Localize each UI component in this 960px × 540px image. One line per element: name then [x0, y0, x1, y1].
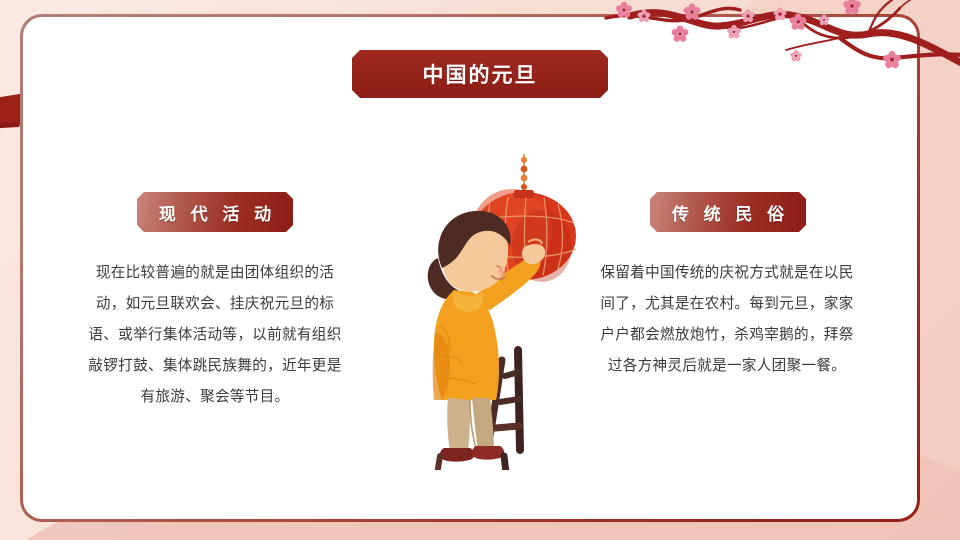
slide-root: 中国的元旦 现 代 活 动 传 统 民 俗 现在比较普遍的就是由团体组织的活动，… — [0, 0, 960, 540]
section-heading-modern-activities: 现 代 活 动 — [137, 192, 293, 232]
page-title: 中国的元旦 — [423, 59, 538, 89]
section-body-modern-activities: 现在比较普遍的就是由团体组织的活动，如元旦联欢会、挂庆祝元旦的标语、或举行集体活… — [84, 258, 346, 413]
section-heading-traditional-customs: 传 统 民 俗 — [650, 192, 806, 232]
person-hanging-lantern-on-ladder-illustration — [392, 150, 582, 470]
section-heading-label: 现 代 活 动 — [154, 200, 276, 225]
section-heading-label: 传 统 民 俗 — [667, 200, 789, 225]
person-legs — [447, 398, 494, 450]
person-shoes — [440, 446, 504, 462]
section-body-traditional-customs: 保留着中国传统的庆祝方式就是在以民间了，尤其是在农村。每到元旦，家家户户都会燃放… — [596, 258, 858, 382]
slide-title-banner: 中国的元旦 — [352, 50, 608, 98]
